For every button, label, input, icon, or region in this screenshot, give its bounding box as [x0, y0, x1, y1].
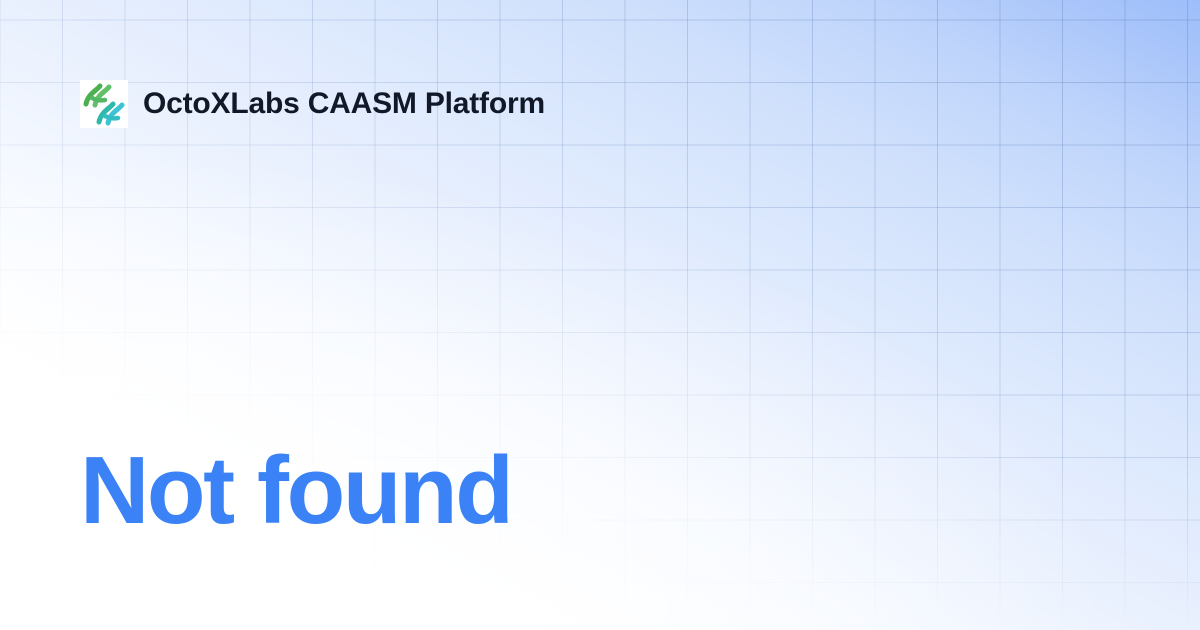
- octoxlabs-waves-logo-icon: [80, 80, 128, 128]
- error-page: OctoXLabs CAASM Platform Not found: [0, 0, 1200, 630]
- page-title: Not found: [80, 443, 512, 539]
- brand-title: OctoXLabs CAASM Platform: [143, 89, 545, 119]
- brand-header[interactable]: OctoXLabs CAASM Platform: [80, 80, 545, 128]
